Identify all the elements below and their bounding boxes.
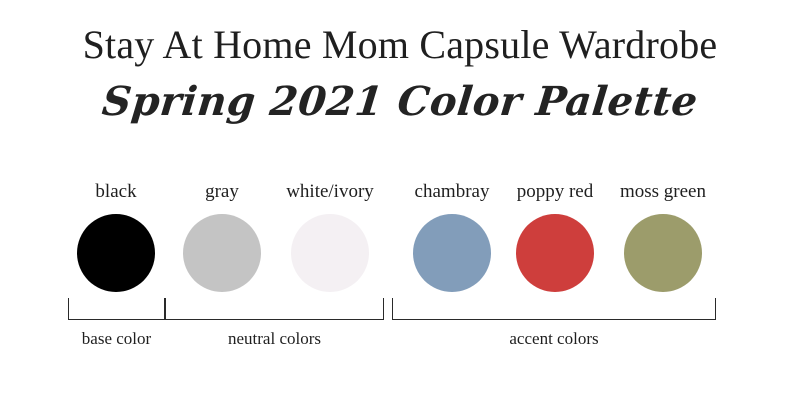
- swatch-label: poppy red: [495, 180, 615, 204]
- bracket-accent-colors: [392, 298, 716, 320]
- swatch-poppy-red: poppy red: [495, 180, 615, 292]
- swatch-gray: gray: [162, 180, 282, 292]
- swatch-dot-chambray: [413, 214, 491, 292]
- group-label-base-color: base color: [68, 328, 165, 350]
- swatch-dot-black: [77, 214, 155, 292]
- swatch-dot-moss-green: [624, 214, 702, 292]
- bracket-neutral-colors: [165, 298, 384, 320]
- swatch-label: moss green: [603, 180, 723, 204]
- swatch-dot-white-ivory: [291, 214, 369, 292]
- swatch-chambray: chambray: [392, 180, 512, 292]
- group-label-neutral-colors: neutral colors: [165, 328, 384, 350]
- swatch-label: chambray: [392, 180, 512, 204]
- group-bracket-row: base color neutral colors accent colors: [0, 298, 800, 368]
- page-title: Stay At Home Mom Capsule Wardrobe: [0, 22, 800, 68]
- swatch-moss-green: moss green: [603, 180, 723, 292]
- swatch-label: black: [56, 180, 176, 204]
- color-palette-graphic: Stay At Home Mom Capsule Wardrobe Spring…: [0, 0, 800, 400]
- page-subtitle: Spring 2021 Color Palette: [0, 76, 800, 128]
- swatch-dot-gray: [183, 214, 261, 292]
- swatch-row: black gray white/ivory chambray poppy re…: [0, 180, 800, 315]
- swatch-label: white/ivory: [270, 180, 390, 204]
- bracket-base-color: [68, 298, 165, 320]
- swatch-black: black: [56, 180, 176, 292]
- swatch-dot-poppy-red: [516, 214, 594, 292]
- swatch-label: gray: [162, 180, 282, 204]
- group-label-accent-colors: accent colors: [392, 328, 716, 350]
- swatch-white-ivory: white/ivory: [270, 180, 390, 292]
